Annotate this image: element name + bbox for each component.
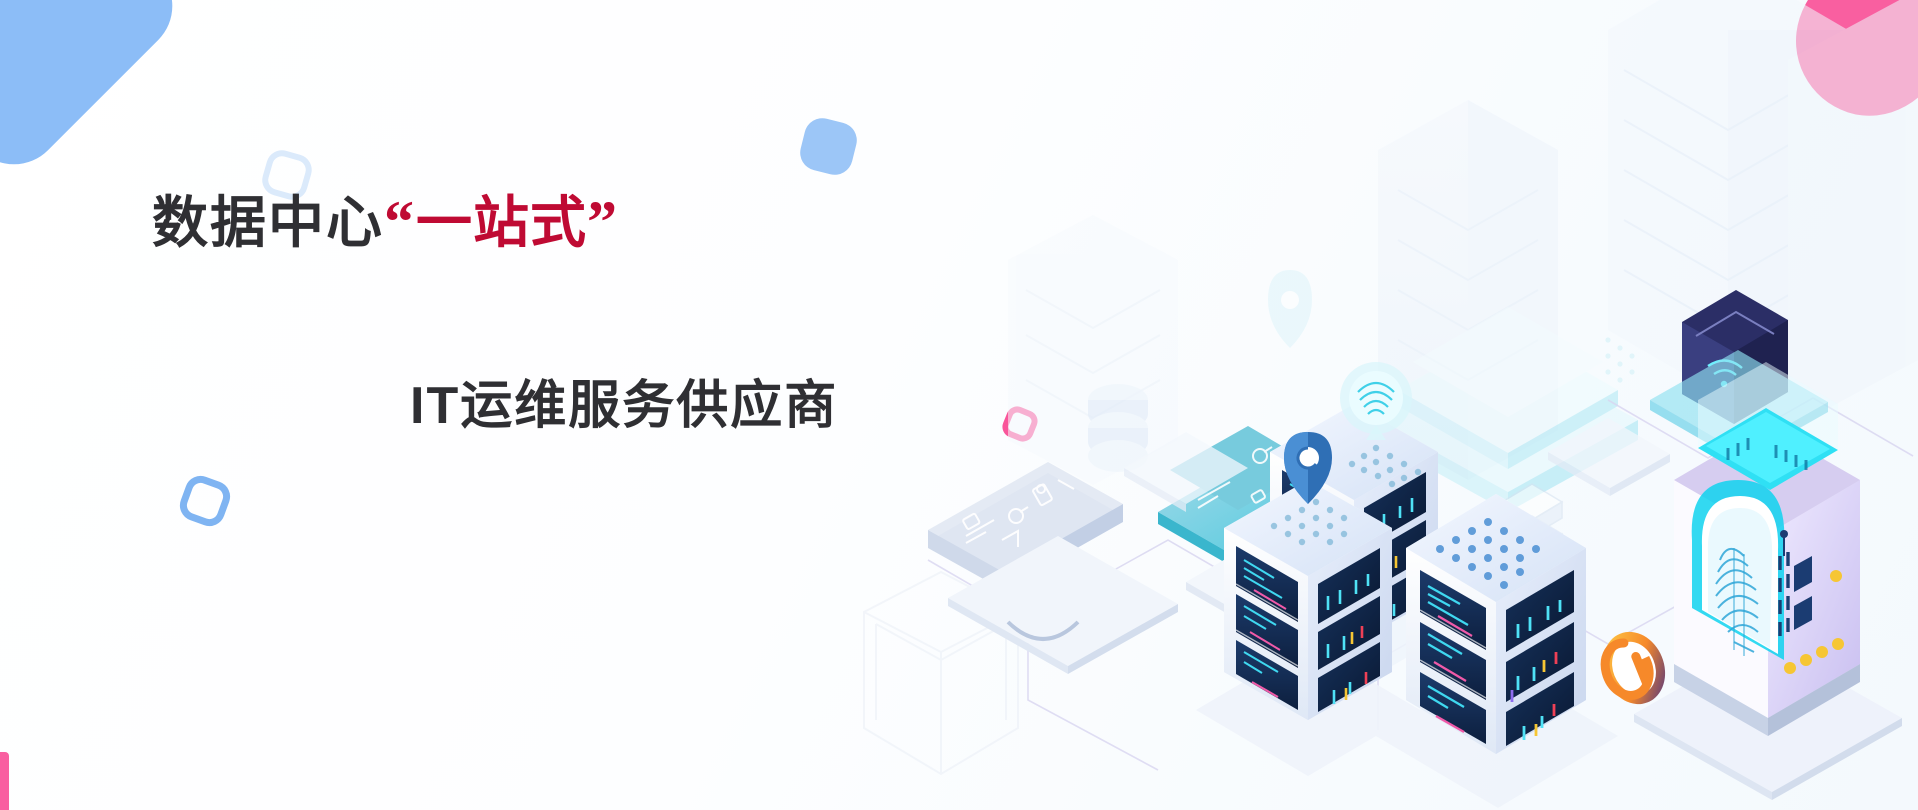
server-rack-center — [1238, 362, 1474, 686]
headline-line-2: IT运维服务供应商 — [410, 363, 1072, 438]
fingerprint-scanner — [1340, 362, 1412, 440]
ghost-cube-watermark — [858, 568, 1024, 783]
hero-banner: 数据中心 “ 一站式 ” IT运维服务供应商 — [0, 0, 1918, 810]
blue-ring-icon — [176, 472, 235, 531]
cabinet-glow-panel — [1698, 362, 1838, 490]
ghost-cyan-platform — [1378, 307, 1638, 512]
monitor-display — [1158, 426, 1338, 636]
quote-open: “ — [384, 188, 416, 257]
orange-swirl-coin — [1592, 622, 1675, 713]
filled-blue-square-icon — [796, 114, 860, 178]
pale-platforms — [1124, 418, 1670, 512]
server-rack-right — [1376, 494, 1618, 808]
location-pin-icon — [1268, 270, 1312, 348]
tablet-device — [1650, 290, 1828, 462]
headline-accent: 一站式 — [416, 191, 587, 255]
headline-block: 数据中心 “ 一站式 ” IT运维服务供应商 — [152, 188, 1072, 438]
cube-stack-icon — [1502, 484, 1562, 568]
headline-prefix: 数据中心 — [152, 191, 384, 255]
location-pin-marker — [1284, 432, 1332, 504]
pink-edge-marker — [0, 752, 9, 810]
tall-server-cabinet — [1634, 362, 1902, 800]
corner-blue-shape — [0, 0, 192, 184]
quote-close: ” — [587, 188, 619, 257]
corner-pink-blob — [1776, 0, 1918, 136]
stacked-disks — [1088, 384, 1148, 472]
headline-line-1: 数据中心 “ 一站式 ” — [152, 188, 1072, 257]
ghost-building-cluster — [1008, 0, 1918, 485]
server-rack-left — [1196, 432, 1420, 776]
network-connector-lines — [928, 398, 1913, 770]
